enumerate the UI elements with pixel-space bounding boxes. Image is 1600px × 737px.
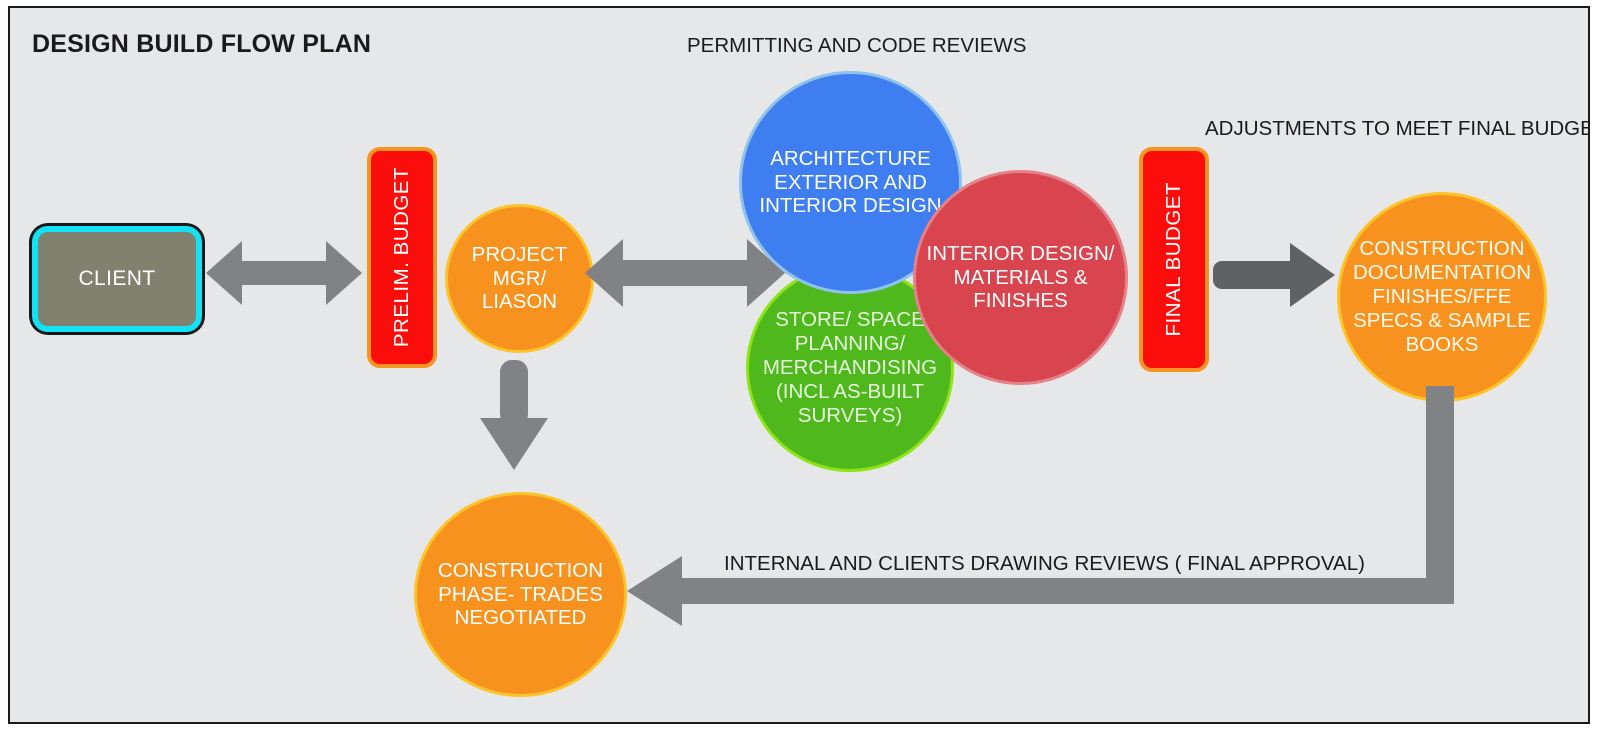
node-interior-design-label: INTERIOR DESIGN/ MATERIALS & FINISHES xyxy=(916,242,1125,314)
page-title: DESIGN BUILD FLOW PLAN xyxy=(32,30,371,59)
node-construction-documentation[interactable]: CONSTRUCTION DOCUMENTATION FINISHES/FFE … xyxy=(1337,192,1547,402)
adjustments-label: ADJUSTMENTS TO MEET FINAL BUDGET xyxy=(1205,114,1377,143)
node-construction-documentation-label: CONSTRUCTION DOCUMENTATION FINISHES/FFE … xyxy=(1340,237,1544,357)
connector-pm-to-construction-phase xyxy=(480,360,548,470)
node-prelim-budget[interactable]: PRELIM. BUDGET xyxy=(367,147,437,368)
permitting-label: PERMITTING AND CODE REVIEWS xyxy=(687,34,1026,58)
node-client[interactable]: CLIENT xyxy=(32,226,202,332)
connector-final-budget-to-docs xyxy=(1213,243,1335,307)
node-final-budget[interactable]: FINAL BUDGET xyxy=(1139,147,1209,372)
node-client-label: CLIENT xyxy=(78,267,155,291)
connector-pm-to-design xyxy=(585,239,785,307)
node-construction-phase-label: CONSTRUCTION PHASE- TRADES NEGOTIATED xyxy=(417,559,624,631)
node-architecture-label: ARCHITECTURE EXTERIOR AND INTERIOR DESIG… xyxy=(742,147,959,219)
node-project-manager-label: PROJECT MGR/ LIASON xyxy=(448,243,591,315)
diagram-canvas: DESIGN BUILD FLOW PLAN PERMITTING AND CO… xyxy=(8,6,1590,724)
node-final-budget-label: FINAL BUDGET xyxy=(1162,182,1186,336)
node-prelim-budget-label: PRELIM. BUDGET xyxy=(390,167,414,347)
connector-client-to-prelim-budget xyxy=(206,241,362,305)
drawing-reviews-label: INTERNAL AND CLIENTS DRAWING REVIEWS ( F… xyxy=(724,552,1365,576)
node-interior-design[interactable]: INTERIOR DESIGN/ MATERIALS & FINISHES xyxy=(913,170,1128,385)
node-project-manager[interactable]: PROJECT MGR/ LIASON xyxy=(445,204,594,353)
node-construction-phase[interactable]: CONSTRUCTION PHASE- TRADES NEGOTIATED xyxy=(414,492,627,697)
node-store-space-planning-label: STORE/ SPACE PLANNING/ MERCHANDISING (IN… xyxy=(749,308,951,428)
